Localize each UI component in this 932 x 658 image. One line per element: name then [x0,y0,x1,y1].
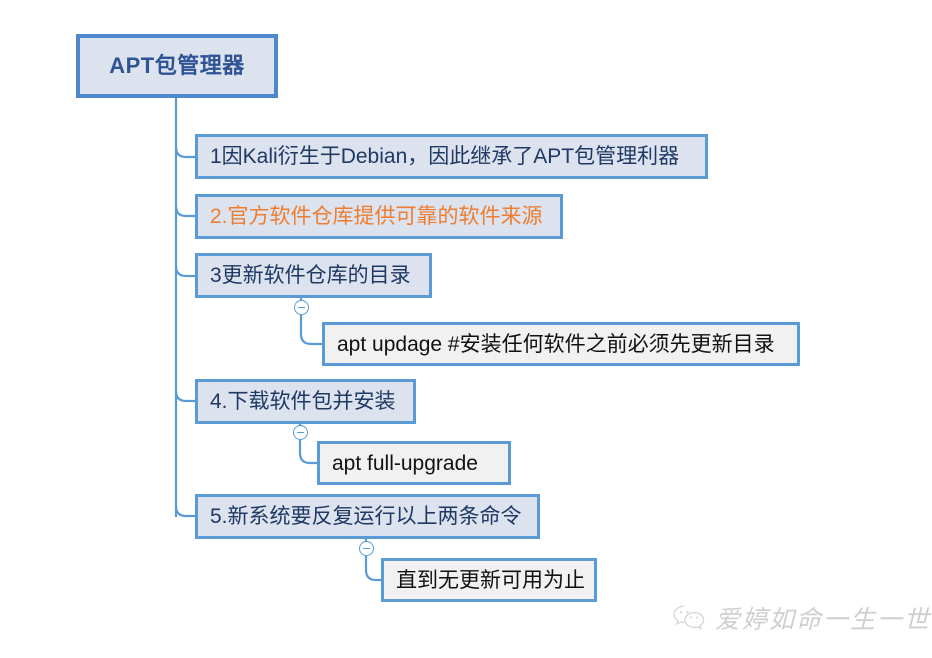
branch-node-2[interactable]: 2.官方软件仓库提供可靠的软件来源 [195,194,563,239]
elbow-branch-2 [176,206,195,216]
collapse-toggle-branch-4[interactable] [293,425,308,440]
branch-node-5[interactable]: 5.新系统要反复运行以上两条命令 [195,494,540,539]
branch-node-5-label: 5.新系统要反复运行以上两条命令 [210,506,522,527]
elbow-branch-1 [176,147,195,157]
watermark: 爱婷如命一生一世 [672,600,931,636]
branch-node-4[interactable]: 4.下载软件包并安装 [195,379,416,424]
leaf-node-until-no-updates[interactable]: 直到无更新可用为止 [381,558,597,602]
collapse-toggle-branch-5[interactable] [359,541,374,556]
collapse-toggle-branch-3[interactable] [294,300,309,315]
elbow-branch-3 [176,266,195,276]
branch-node-3[interactable]: 3更新软件仓库的目录 [195,253,432,298]
branch-node-3-label: 3更新软件仓库的目录 [210,265,411,286]
root-node-apt-package-manager[interactable]: APT包管理器 [76,34,278,98]
elbow-branch-5 [176,506,195,516]
branch-node-1[interactable]: 1因Kali衍生于Debian，因此继承了APT包管理利器 [195,134,708,179]
leaf-node-apt-full-upgrade[interactable]: apt full-upgrade [317,441,511,485]
branch-node-1-label: 1因Kali衍生于Debian，因此继承了APT包管理利器 [210,146,679,167]
branch-node-4-label: 4.下载软件包并安装 [210,391,396,412]
elbow-branch-4 [176,391,195,401]
wechat-icon [672,604,706,632]
branch-node-2-label: 2.官方软件仓库提供可靠的软件来源 [210,206,543,227]
leaf-node-apt-updage[interactable]: apt updage #安装任何软件之前必须先更新目录 [322,322,800,366]
leaf-node-apt-updage-label: apt updage #安装任何软件之前必须先更新目录 [337,334,775,355]
watermark-text: 爱婷如命一生一世 [715,600,931,636]
leaf-node-until-no-updates-label: 直到无更新可用为止 [396,570,585,591]
root-node-label: APT包管理器 [109,55,245,77]
leaf-node-apt-full-upgrade-label: apt full-upgrade [332,453,478,474]
mindmap-canvas: APT包管理器 1因Kali衍生于Debian，因此继承了APT包管理利器 2.… [0,0,932,658]
